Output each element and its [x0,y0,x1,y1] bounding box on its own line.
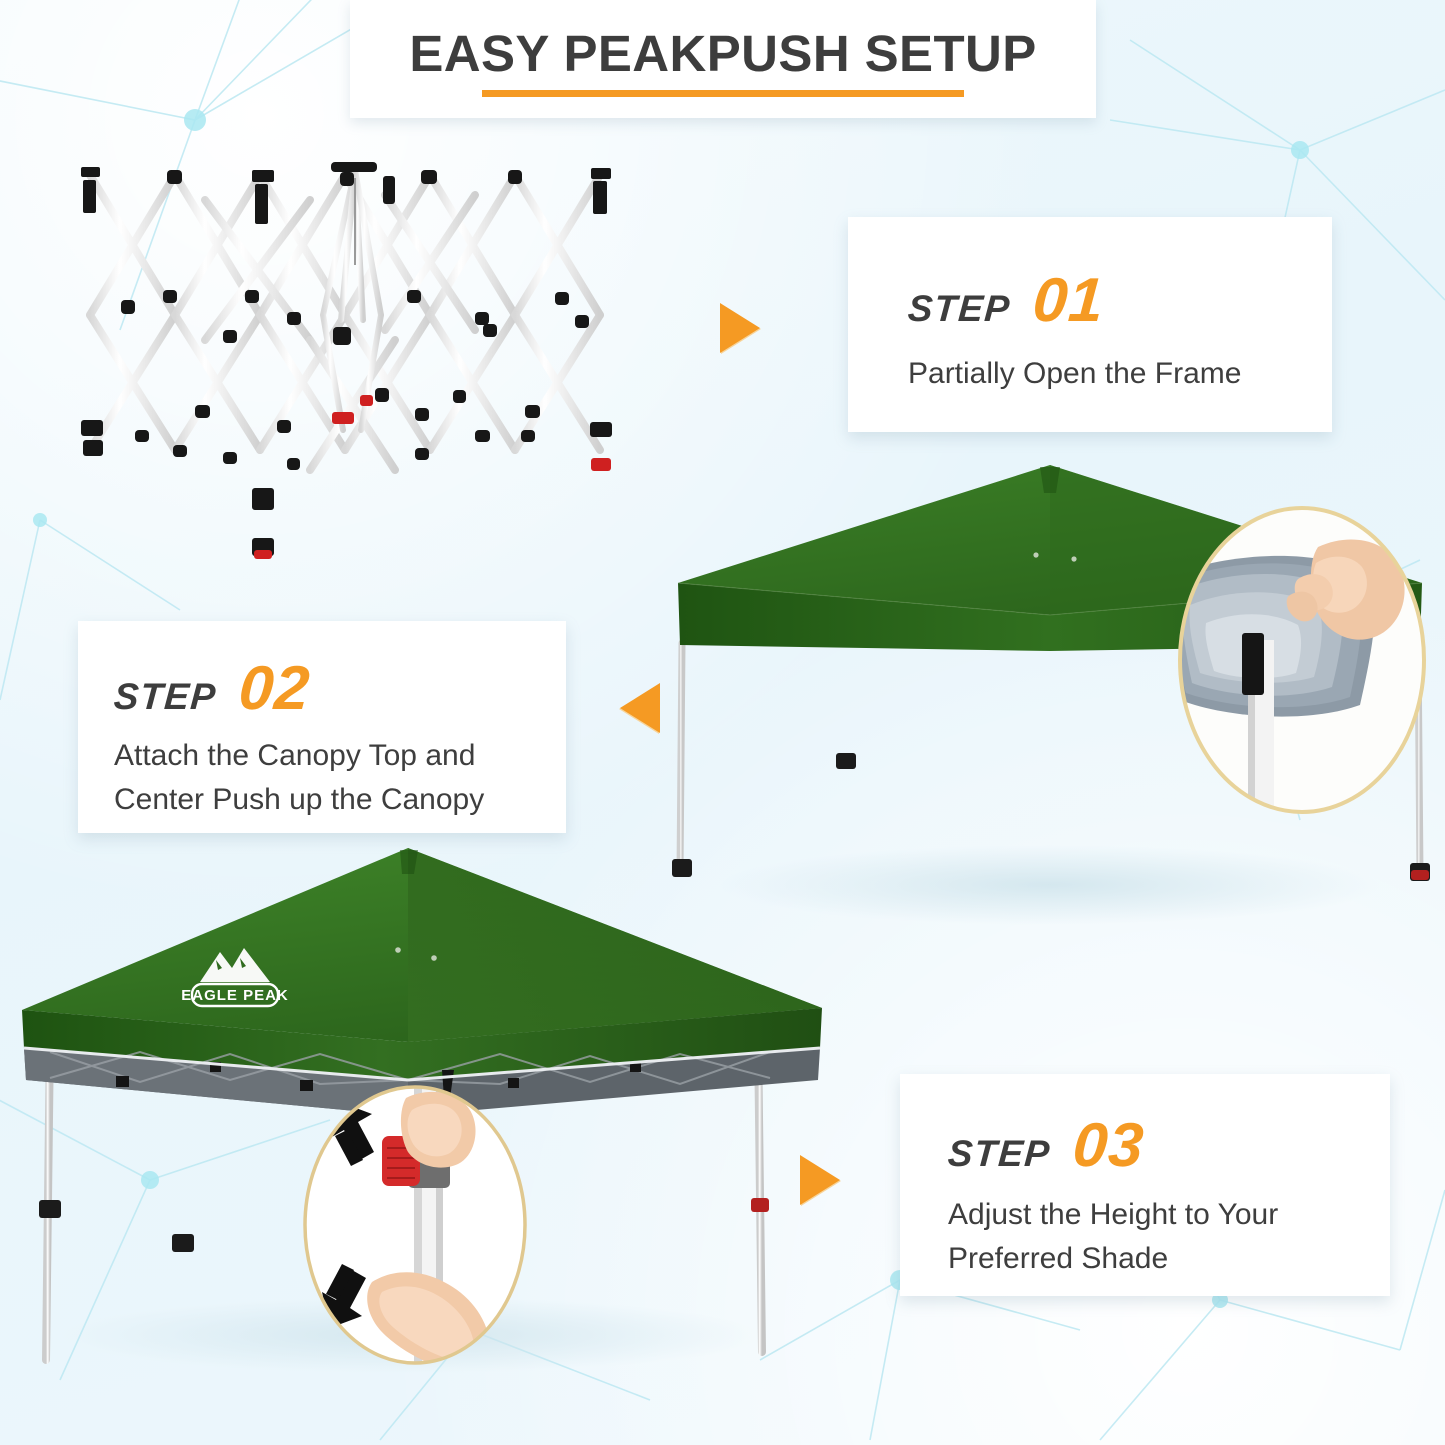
step-2-description: Attach the Canopy Top and Center Push up… [114,734,566,821]
step-1-number: 01 [1031,273,1106,329]
step-2-number: 02 [237,661,312,717]
step-1-description: Partially Open the Frame [908,352,1332,396]
step-3-label: STEP [947,1133,1053,1175]
svg-text:EAGLE PEAK: EAGLE PEAK [181,987,289,1004]
step-1-heading: STEP 01 [908,273,1332,330]
canopy-height-illustration: EAGLE PEAK [10,830,830,1375]
folded-canopy-frame-illustration [55,140,695,610]
title-banner: EASY PEAKPUSH SETUP [350,0,1096,118]
infographic-canvas: EASY PEAKPUSH SETUP [0,0,1445,1445]
step-card-3[interactable]: STEP 03 Adjust the Height to Your Prefer… [900,1074,1390,1296]
step-3-description: Adjust the Height to Your Preferred Shad… [948,1193,1390,1280]
step-2-label: STEP [113,676,219,718]
arrow-right-icon-1 [720,303,760,353]
step-3-number: 03 [1071,1118,1146,1174]
page-title: EASY PEAKPUSH SETUP [409,28,1036,79]
step-2-heading: STEP 02 [114,661,566,718]
step-card-2[interactable]: STEP 02 Attach the Canopy Top and Center… [78,621,566,833]
step-card-1[interactable]: STEP 01 Partially Open the Frame [848,217,1332,432]
step-3-heading: STEP 03 [948,1118,1390,1175]
arrow-left-icon-2 [620,683,660,733]
title-underline [482,90,964,97]
arrow-right-icon-3 [800,1155,840,1205]
step-1-label: STEP [907,288,1013,330]
